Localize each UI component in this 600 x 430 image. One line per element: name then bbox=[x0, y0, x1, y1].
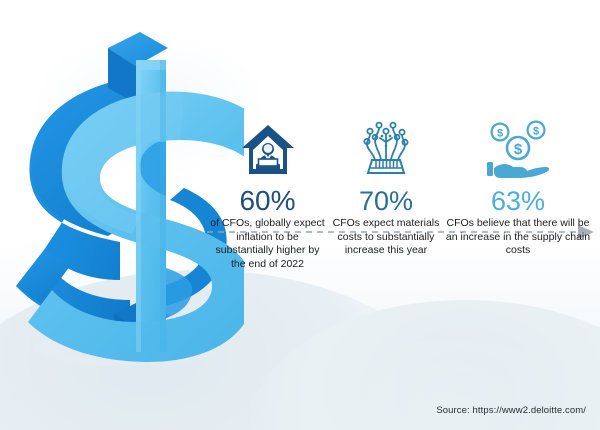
stat-description-3: CFOs believe that there will be an incre… bbox=[441, 217, 595, 258]
svg-text:$: $ bbox=[497, 128, 503, 140]
stat-percent-2: 70% bbox=[327, 186, 445, 216]
stat-percent-3: 63% bbox=[441, 186, 595, 216]
stat-block-3: $ $ $ 6 bbox=[441, 118, 595, 258]
statistics-row: 60% of CFOs, globally expect inflation t… bbox=[205, 118, 595, 318]
hand-coins-icon: $ $ $ bbox=[441, 118, 595, 180]
stat-block-1: 60% of CFOs, globally expect inflation t… bbox=[205, 118, 330, 271]
svg-text:$: $ bbox=[514, 141, 523, 158]
source-attribution: Source: https://www2.deloitte.com/ bbox=[436, 405, 586, 416]
stat-description-2: CFOs expect materials costs to substanti… bbox=[327, 217, 445, 258]
stat-description-1: of CFOs, globally expect inflation to be… bbox=[205, 217, 330, 271]
stat-block-2: 70% CFOs expect materials costs to subst… bbox=[327, 118, 445, 258]
stat-percent-1: 60% bbox=[205, 186, 330, 216]
infographic-canvas: 60% of CFOs, globally expect inflation t… bbox=[0, 0, 600, 430]
circuit-board-icon bbox=[327, 118, 445, 180]
svg-text:$: $ bbox=[533, 126, 539, 138]
house-person-laptop-icon bbox=[205, 118, 330, 180]
